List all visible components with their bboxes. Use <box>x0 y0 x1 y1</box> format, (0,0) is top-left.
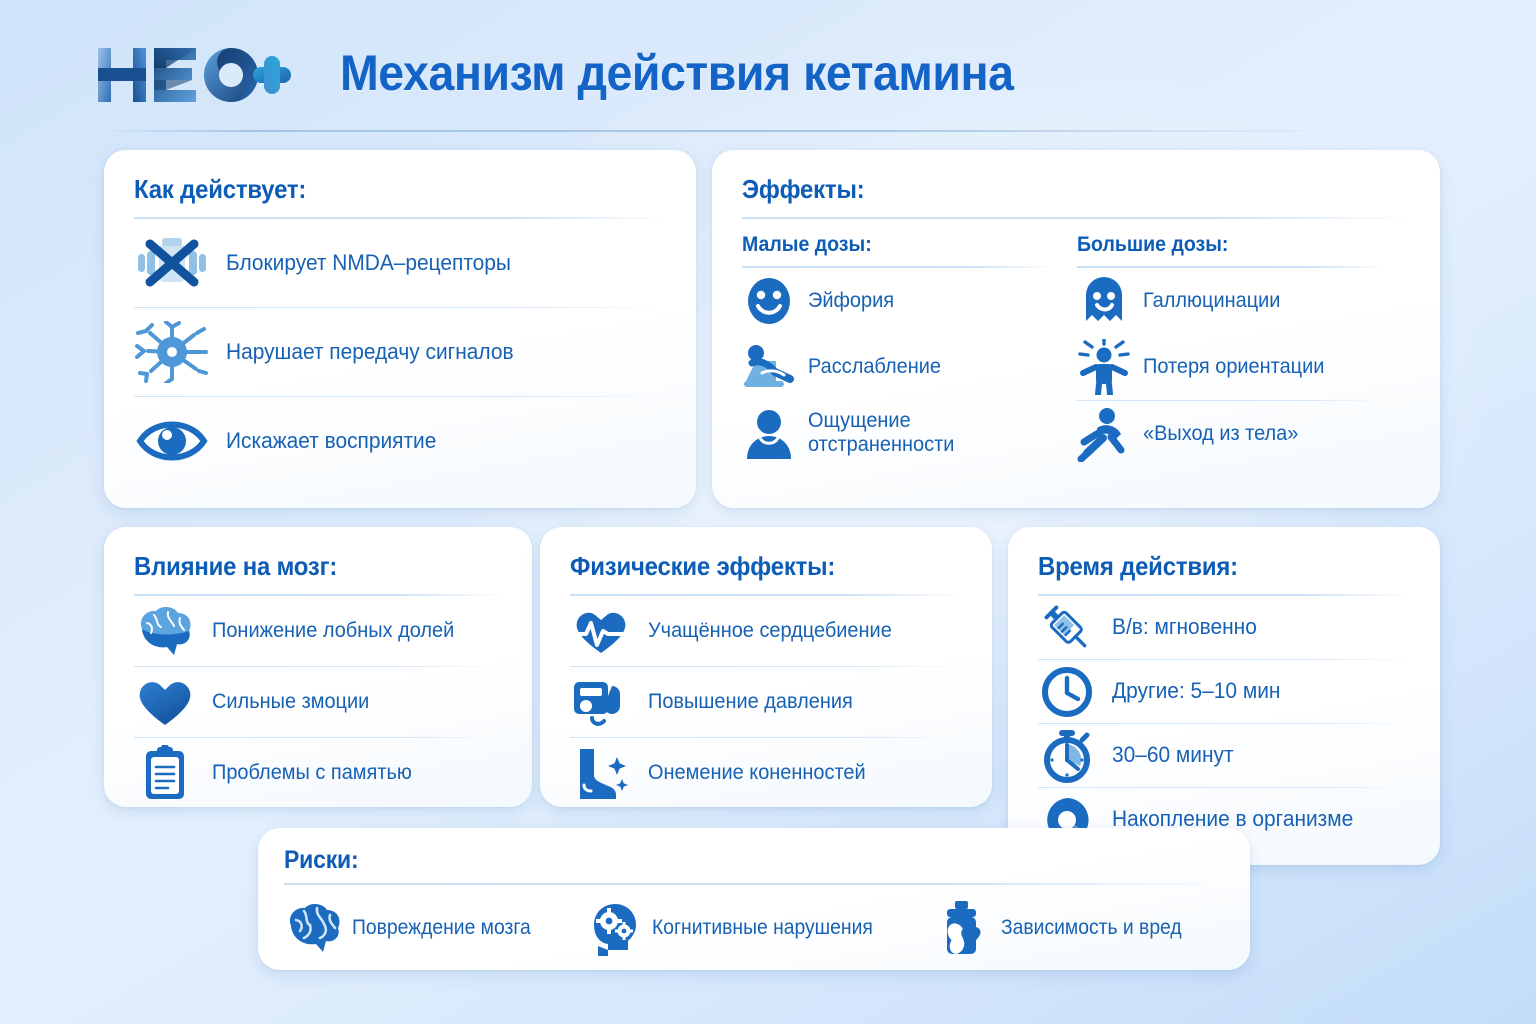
card-duration: Время действия: В/в: мгновенно <box>1008 527 1440 865</box>
list-item[interactable]: 30–60 минут <box>1038 724 1412 787</box>
disoriented-person-icon <box>1077 339 1131 395</box>
list-item[interactable]: Галлюцинации <box>1077 268 1388 334</box>
effects-column-high-dose: Большие дозы: Галлюцинации <box>1077 233 1412 467</box>
list-item-label: Сильные змоции <box>212 690 369 714</box>
column-heading: Большие дозы: <box>1077 233 1366 257</box>
list-item-label: «Выход из тела» <box>1143 422 1298 446</box>
list-item-label: В/в: мгновенно <box>1112 615 1257 640</box>
list-item-label: Блокирует NMDA–рецепторы <box>226 251 511 276</box>
list-item[interactable]: «Выход из тела» <box>1077 401 1388 467</box>
card-title: Время действия: <box>1038 551 1382 582</box>
card-title: Эффекты: <box>742 174 1358 205</box>
list-item[interactable]: В/в: мгновенно <box>1038 596 1412 659</box>
heartbeat-icon <box>570 603 632 659</box>
list-item[interactable]: Расслабление <box>742 334 1053 400</box>
card-title: Физические эффекты: <box>570 551 932 582</box>
heart-icon <box>134 674 196 730</box>
list-item-label: Повышение давления <box>648 690 853 714</box>
smiley-face-icon <box>742 273 796 329</box>
list-item[interactable]: Блокирует NMDA–рецепторы <box>134 219 668 307</box>
numb-limb-boot-icon <box>570 745 632 801</box>
list-item-label: Зависимость и вред <box>1001 916 1182 940</box>
list-item-label: Ощущение отстраненности <box>808 409 1041 456</box>
stopwatch-icon <box>1038 729 1096 783</box>
brand-logo <box>96 40 292 110</box>
list-item[interactable]: Другие: 5–10 мин <box>1038 660 1412 723</box>
list-item[interactable]: Онемение коненностей <box>570 738 964 808</box>
list-item-label: Нарушает передачу сигналов <box>226 340 514 365</box>
list-item[interactable]: Эйфория <box>742 268 1053 334</box>
list-item-label: Повреждение мозга <box>352 916 531 940</box>
effects-column-low-dose: Малые дозы: Эйфория <box>742 233 1077 467</box>
list-item-label: Когнитивные нарушения <box>652 916 873 940</box>
clock-icon <box>1038 665 1096 719</box>
list-item-label: Потеря ориентации <box>1143 355 1324 379</box>
list-item-label: Галлюцинации <box>1143 289 1280 313</box>
neuron-icon <box>134 321 210 383</box>
list-item-label: Другие: 5–10 мин <box>1112 679 1280 704</box>
list-item-label: Онемение коненностей <box>648 761 866 785</box>
ghost-icon <box>1077 273 1131 329</box>
damaged-brain-icon <box>284 900 342 956</box>
list-item[interactable]: Проблемы с памятью <box>134 738 504 808</box>
card-physical-effects: Физические эффекты: Учащённое сердцебиен… <box>540 527 992 807</box>
list-item[interactable]: Нарушает передачу сигналов <box>134 308 668 396</box>
list-item[interactable]: Когнитивные нарушения <box>584 900 933 956</box>
head-gears-icon <box>584 900 642 956</box>
list-item[interactable]: Потеря ориентации <box>1077 334 1388 400</box>
list-item-label: Расслабление <box>808 355 941 379</box>
list-item-label: Искажает восприятие <box>226 429 436 454</box>
syringe-icon <box>1038 601 1096 655</box>
card-brain-impact: Влияние на мозг: Понижение лобных долей <box>104 527 532 807</box>
list-item[interactable]: Искажает восприятие <box>134 397 668 485</box>
card-risks: Риски: Повреждение мозга <box>258 828 1250 970</box>
list-item-label: 30–60 минут <box>1112 743 1234 768</box>
list-item-label: Проблемы с памятью <box>212 761 412 785</box>
card-effects: Эффекты: Малые дозы: Эйфория <box>712 150 1440 508</box>
list-item-label: Эйфория <box>808 289 894 313</box>
card-how-it-works: Как действует: Блокирует NMDA–рецепторы <box>104 150 696 508</box>
card-title: Влияние на мозг: <box>134 551 474 582</box>
reclining-person-icon <box>742 339 796 395</box>
list-item[interactable]: Учащённое сердцебиение <box>570 596 964 666</box>
list-item[interactable]: Зависимость и вред <box>933 900 1224 956</box>
blood-pressure-monitor-icon <box>570 674 632 730</box>
nmda-receptor-blocked-icon <box>134 232 210 294</box>
header-divider <box>100 130 1350 132</box>
person-bust-icon <box>742 405 796 461</box>
page-header: Механизм действия кетамина <box>0 0 1536 136</box>
list-item[interactable]: Повреждение мозга <box>284 900 584 956</box>
card-title: Как действует: <box>134 174 625 205</box>
pill-bottle-icon <box>933 900 991 956</box>
list-item[interactable]: Повышение давления <box>570 667 964 737</box>
list-item-label: Понижение лобных долей <box>212 619 454 643</box>
page-title: Механизм действия кетамина <box>340 44 1013 102</box>
column-heading: Малые дозы: <box>742 233 1031 257</box>
title-divider <box>742 217 1412 219</box>
card-title: Риски: <box>284 846 1149 875</box>
list-item[interactable]: Понижение лобных долей <box>134 596 504 666</box>
list-item-label: Учащённое сердцебиение <box>648 619 892 643</box>
list-item[interactable]: Сильные змоции <box>134 667 504 737</box>
clipboard-icon <box>134 745 196 801</box>
list-item[interactable]: Ощущение отстраненности <box>742 400 1053 466</box>
brain-icon <box>134 603 196 659</box>
title-divider <box>284 883 1224 885</box>
eye-icon <box>134 410 210 472</box>
floating-body-icon <box>1077 406 1131 462</box>
